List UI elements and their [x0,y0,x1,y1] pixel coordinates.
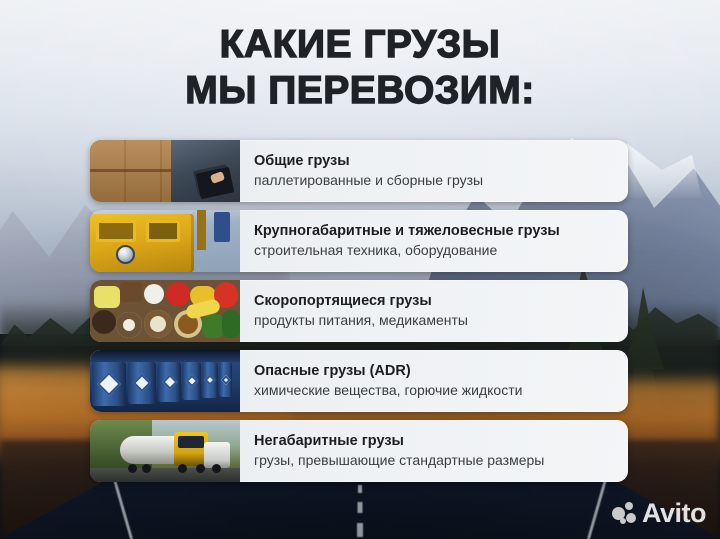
cargo-title: Скоропортящиеся грузы [254,292,616,311]
title-line-1: КАКИЕ ГРУЗЫ [0,22,720,68]
cargo-thumb-boxes-icon [90,140,240,202]
cargo-list: Общие грузы паллетированные и сборные гр… [90,140,628,482]
cargo-card-outsize[interactable]: Негабаритные грузы грузы, превышающие ст… [90,420,628,482]
cargo-card-perishable[interactable]: Скоропортящиеся грузы продукты питания, … [90,280,628,342]
cargo-thumb-chemical-drums-icon [90,350,240,412]
promo-poster: КАКИЕ ГРУЗЫ МЫ ПЕРЕВОЗИМ: Общие грузы па… [0,0,720,539]
cargo-thumb-food-icon [90,280,240,342]
cargo-subtitle: паллетированные и сборные грузы [254,171,616,190]
cargo-title: Общие грузы [254,152,616,171]
cargo-subtitle: химические вещества, горючие жидкости [254,381,616,400]
cargo-title: Негабаритные грузы [254,432,616,451]
cargo-card-oversize-heavy[interactable]: Крупногабаритные и тяжеловесные грузы ст… [90,210,628,272]
title-line-2: МЫ ПЕРЕВОЗИМ: [0,68,720,114]
cargo-subtitle: продукты питания, медикаменты [254,311,616,330]
cargo-title: Опасные грузы (ADR) [254,362,616,381]
cargo-thumb-crane-icon [90,210,240,272]
cargo-subtitle: строительная техника, оборудование [254,241,616,260]
cargo-thumb-tank-truck-icon [90,420,240,482]
cargo-card-text: Скоропортящиеся грузы продукты питания, … [240,280,628,342]
avito-dots-logo-icon [612,502,636,526]
cargo-card-general[interactable]: Общие грузы паллетированные и сборные гр… [90,140,628,202]
cargo-card-dangerous-adr[interactable]: Опасные грузы (ADR) химические вещества,… [90,350,628,412]
avito-watermark: Avito [612,500,706,527]
cargo-card-text: Негабаритные грузы грузы, превышающие ст… [240,420,628,482]
avito-wordmark: Avito [642,500,706,527]
cargo-card-text: Общие грузы паллетированные и сборные гр… [240,140,628,202]
poster-title: КАКИЕ ГРУЗЫ МЫ ПЕРЕВОЗИМ: [0,22,720,114]
cargo-card-text: Крупногабаритные и тяжеловесные грузы ст… [240,210,628,272]
cargo-card-text: Опасные грузы (ADR) химические вещества,… [240,350,628,412]
cargo-title: Крупногабаритные и тяжеловесные грузы [254,222,616,241]
cargo-subtitle: грузы, превышающие стандартные размеры [254,451,616,470]
